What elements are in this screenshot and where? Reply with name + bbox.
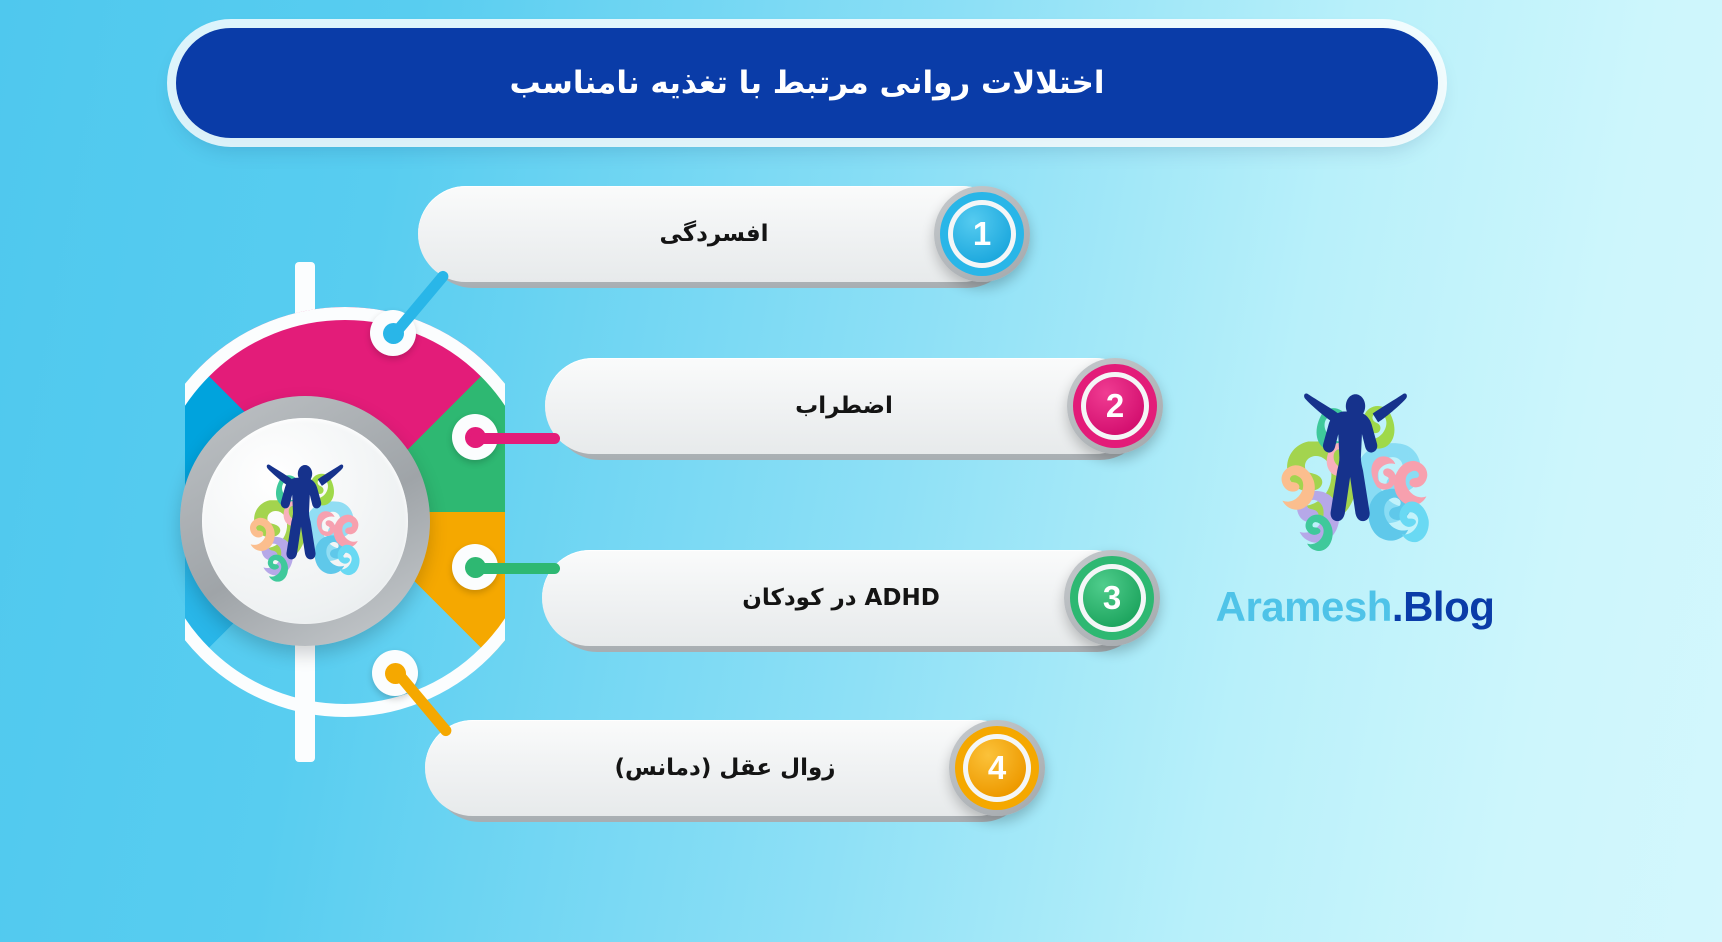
- row-3-badge-ring: 3: [1070, 556, 1154, 640]
- row-2-badge-ring: 2: [1073, 364, 1157, 448]
- row-2-badge-white: 2: [1081, 372, 1149, 440]
- row-3-badge[interactable]: 3: [1064, 550, 1160, 646]
- aramesh-person-leaves-logo-icon: [1248, 362, 1463, 577]
- row-3-badge-number: 3: [1083, 569, 1141, 627]
- row-1-badge-ring: 1: [940, 192, 1024, 276]
- connector-line-2: [470, 433, 560, 444]
- row-4-badge[interactable]: 4: [949, 720, 1045, 816]
- title-banner: اختلالات روانی مرتبط با تغذیه نامناسب: [176, 28, 1438, 138]
- row-4-badge-white: 4: [963, 734, 1031, 802]
- row-4-label: زوال عقل (دمانس): [614, 755, 835, 781]
- row-4-bar[interactable]: زوال عقل (دمانس): [425, 720, 1025, 816]
- row-3-badge-white: 3: [1078, 564, 1146, 632]
- row-1-badge[interactable]: 1: [934, 186, 1030, 282]
- row-2-badge[interactable]: 2: [1067, 358, 1163, 454]
- row-2-bar[interactable]: اضطراب: [545, 358, 1143, 454]
- aramesh-person-leaves-logo-icon: [225, 441, 385, 601]
- row-3-bar[interactable]: ADHD در کودکان: [542, 550, 1140, 646]
- list-item-2[interactable]: اضطراب 2: [545, 358, 1143, 454]
- brand-name: Aramesh: [1216, 583, 1392, 630]
- connector-line-3: [470, 563, 560, 574]
- row-4-badge-ring: 4: [955, 726, 1039, 810]
- list-item-1[interactable]: افسردگی 1: [418, 186, 1010, 282]
- list-item-4[interactable]: زوال عقل (دمانس) 4: [425, 720, 1025, 816]
- row-2-label: اضطراب: [795, 393, 893, 419]
- center-hub-face: [202, 418, 408, 624]
- page-title: اختلالات روانی مرتبط با تغذیه نامناسب: [510, 65, 1105, 101]
- center-wheel: [180, 262, 520, 762]
- row-1-bar[interactable]: افسردگی: [418, 186, 1010, 282]
- row-4-badge-number: 4: [968, 739, 1026, 797]
- list-item-3[interactable]: ADHD در کودکان 3: [542, 550, 1140, 646]
- brand-suffix: Blog: [1403, 583, 1494, 630]
- brand-wordmark: Aramesh.Blog: [1216, 583, 1495, 631]
- row-3-label: ADHD در کودکان: [742, 585, 940, 611]
- brand-dot: .: [1392, 583, 1403, 630]
- row-2-badge-number: 2: [1086, 377, 1144, 435]
- row-1-label: افسردگی: [659, 221, 768, 247]
- center-hub: [180, 396, 430, 646]
- row-1-badge-white: 1: [948, 200, 1016, 268]
- brand-block: Aramesh.Blog: [1205, 362, 1505, 642]
- row-1-badge-number: 1: [953, 205, 1011, 263]
